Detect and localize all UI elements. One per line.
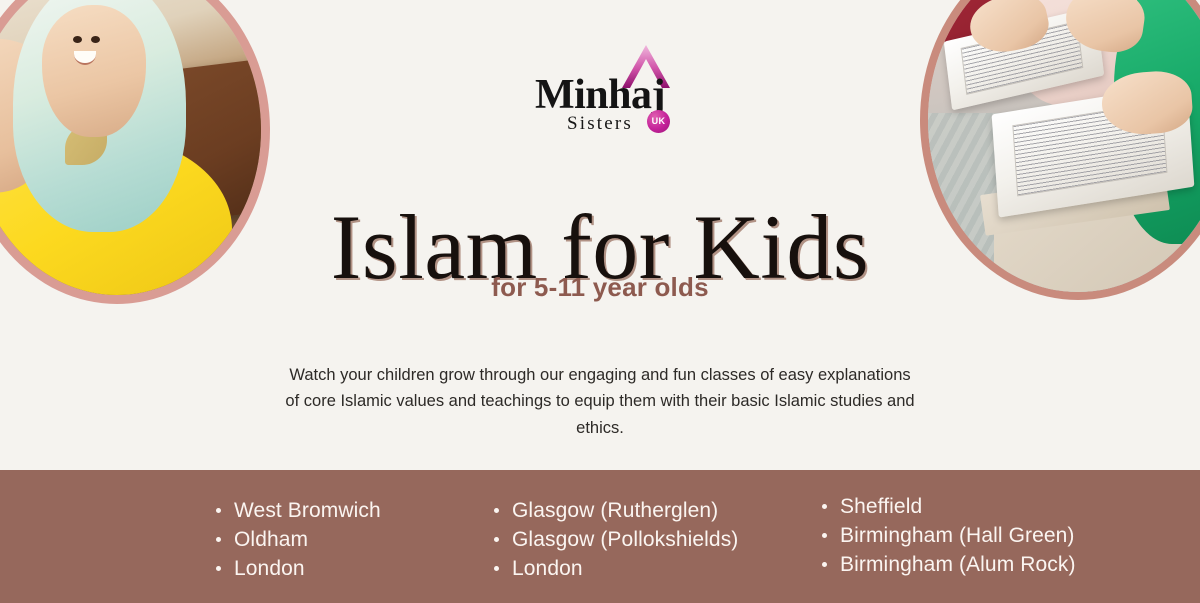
locations-list-1: West Bromwich Oldham London	[214, 496, 484, 583]
locations-list-2: Glasgow (Rutherglen) Glasgow (Pollokshie…	[492, 496, 782, 583]
list-item[interactable]: Glasgow (Pollokshields)	[492, 525, 782, 554]
locations-list-3: Sheffield Birmingham (Hall Green) Birmin…	[820, 492, 1120, 579]
girl-face	[42, 5, 146, 137]
locations-column-2: Glasgow (Rutherglen) Glasgow (Pollokshie…	[492, 488, 782, 583]
left-eye	[73, 36, 82, 43]
list-item[interactable]: West Bromwich	[214, 496, 484, 525]
locations-column-1: West Bromwich Oldham London	[214, 488, 484, 583]
right-eye	[91, 36, 100, 43]
locations-column-3: Sheffield Birmingham (Hall Green) Birmin…	[820, 488, 1120, 579]
smile	[74, 51, 96, 65]
list-item[interactable]: Glasgow (Rutherglen)	[492, 496, 782, 525]
list-item[interactable]: Birmingham (Hall Green)	[820, 521, 1120, 550]
logo-uk-badge: UK	[647, 110, 670, 133]
event-banner: Minhaj Sisters UK Islam for Kids for 5-1…	[0, 0, 1200, 603]
list-item[interactable]: London	[214, 554, 484, 583]
description-text: Watch your children grow through our eng…	[285, 362, 915, 442]
locations-band: West Bromwich Oldham London Glasgow (Rut…	[0, 470, 1200, 603]
age-range-subtitle: for 5-11 year olds	[0, 272, 1200, 303]
minhaj-sisters-uk-logo[interactable]: Minhaj Sisters UK	[515, 46, 685, 142]
list-item[interactable]: Sheffield	[820, 492, 1120, 521]
list-item[interactable]: Birmingham (Alum Rock)	[820, 550, 1120, 579]
list-item[interactable]: Oldham	[214, 525, 484, 554]
list-item[interactable]: London	[492, 554, 782, 583]
